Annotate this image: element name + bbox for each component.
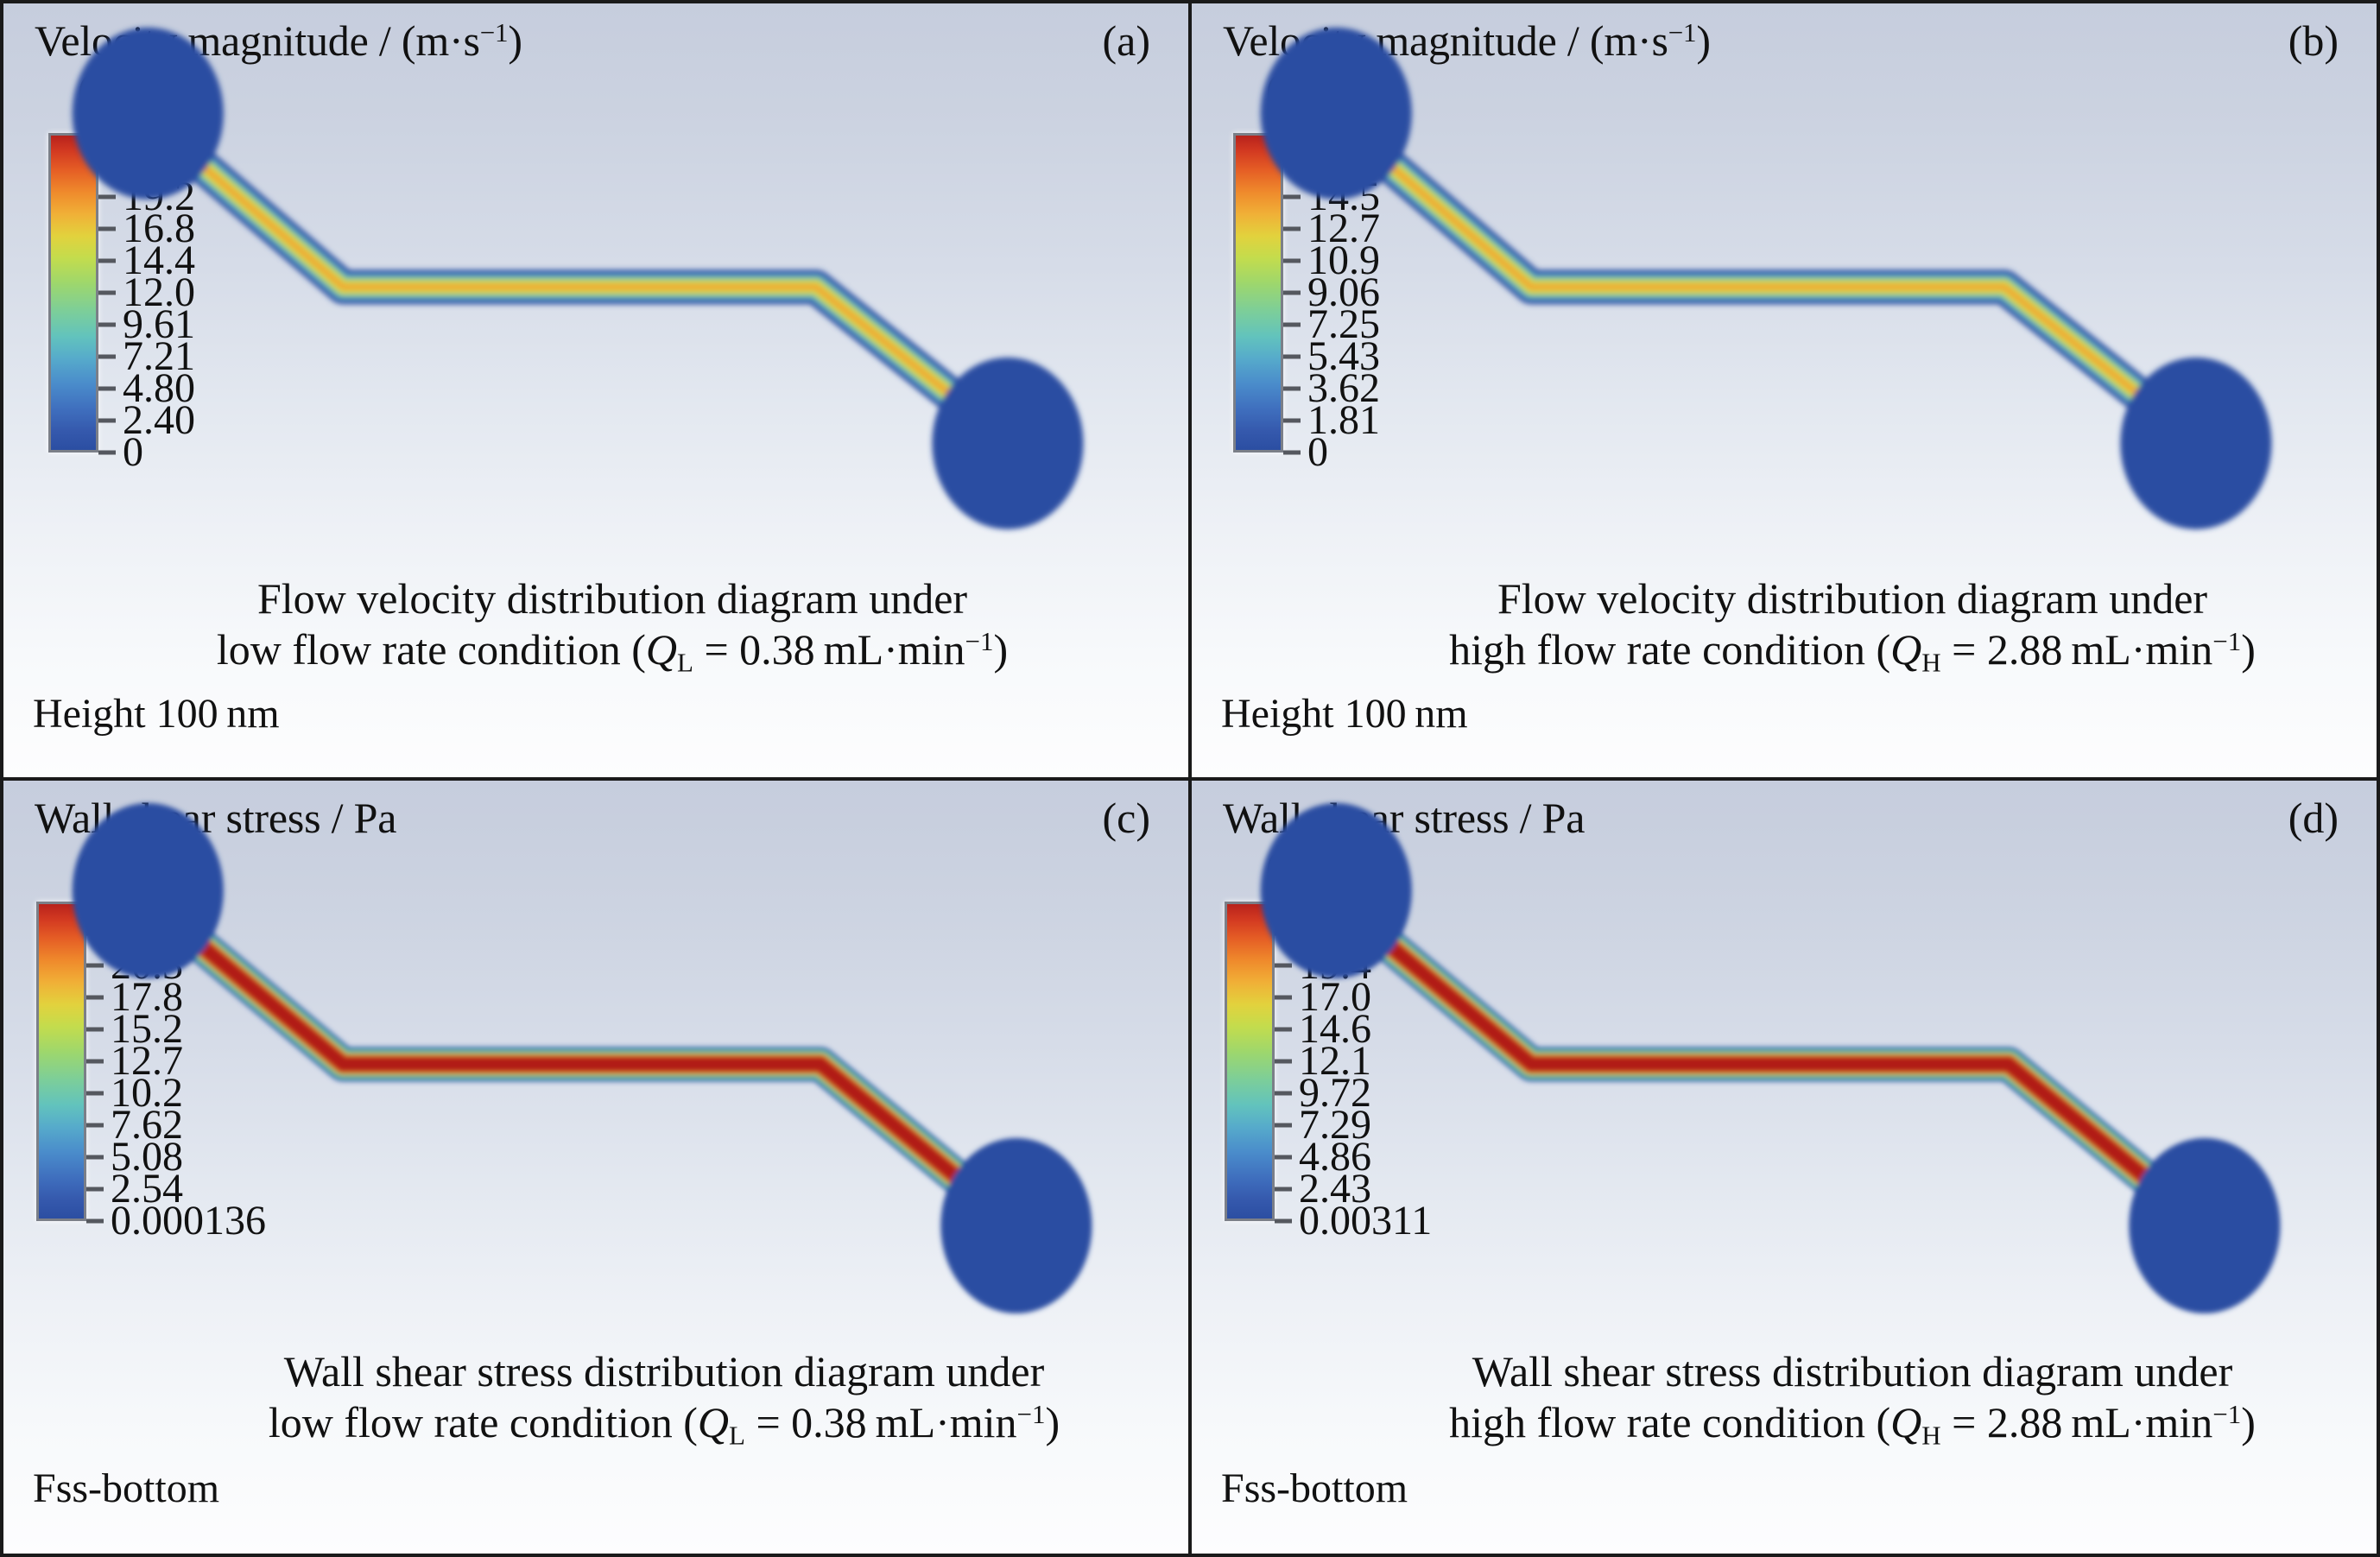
panel-b-caption: Flow velocity distribution diagram under… xyxy=(1377,573,2327,679)
panel-b-tickmark xyxy=(1283,419,1301,423)
panel-a-tickmark xyxy=(98,131,116,136)
panel-d-colorbar: 24.321.919.417.014.612.19.727.294.862.43… xyxy=(1225,902,1570,1221)
panel-c-tickmark xyxy=(86,1027,104,1031)
panel-a-tickmark xyxy=(98,163,116,168)
panel-c-tickmark xyxy=(86,995,104,999)
panel-a-tickmark xyxy=(98,419,116,423)
panel-c-colorbar-label: 0.000136 xyxy=(111,1200,266,1242)
panel-c-tickmark xyxy=(86,1218,104,1223)
panel-d-caption-line1: Wall shear stress distribution diagram u… xyxy=(1360,1346,2345,1397)
panel-d-tickmark xyxy=(1275,1027,1292,1031)
panel-c-footer-note: Fss-bottom xyxy=(33,1465,219,1512)
panel-a-colorbar: 24.021.619.216.814.412.09.617.214.802.40… xyxy=(48,133,333,453)
panel-d-tickmark xyxy=(1275,1155,1292,1159)
panel-c-caption-line2: low flow rate condition (QL = 0.38 mL·mi… xyxy=(176,1397,1152,1452)
panel-a-colorbar-labels: 24.021.619.216.814.412.09.617.214.802.40… xyxy=(123,133,333,453)
panel-a-caption-line2: low flow rate condition (QL = 0.38 mL·mi… xyxy=(159,624,1066,679)
panel-d-tickmark xyxy=(1275,899,1292,903)
panel-c-colorbar: 25.422.920.317.815.212.710.27.625.082.54… xyxy=(36,902,399,1221)
panel-a-scale-exponent: (×10−3) xyxy=(78,64,203,114)
panel-b-tickmark xyxy=(1283,451,1301,455)
panel-a-letter: (a) xyxy=(1103,16,1151,66)
panel-c-colorbar-labels: 25.422.920.317.815.212.710.27.625.082.54… xyxy=(111,902,399,1221)
panel-a-tickmark xyxy=(98,355,116,359)
panel-a: Velocity magnitude / (m·s−1) (×10−3) (a)… xyxy=(0,0,1190,779)
panel-d-colorbar-labels: 24.321.919.417.014.612.19.727.294.862.43… xyxy=(1299,902,1570,1221)
panel-a-colorbar-ticks xyxy=(98,133,117,453)
panel-c-caption: Wall shear stress distribution diagram u… xyxy=(176,1346,1152,1452)
panel-d: Wall shear stress / Pa (×10−1) (d) 24.32… xyxy=(1190,779,2380,1557)
panel-c-tickmark xyxy=(86,1187,104,1191)
panel-b-quantity-title: Velocity magnitude / (m·s−1) xyxy=(1223,16,1711,66)
panel-a-footer-note: Height 100 nm xyxy=(33,690,280,737)
panel-c-caption-line1: Wall shear stress distribution diagram u… xyxy=(176,1346,1152,1397)
panel-c-tickmark xyxy=(86,1091,104,1095)
panel-c-colorbar-gradient xyxy=(36,902,86,1221)
panel-a-tickmark xyxy=(98,387,116,391)
panel-d-tickmark xyxy=(1275,963,1292,967)
panel-d-tickmark xyxy=(1275,1218,1292,1223)
panel-c: Wall shear stress / Pa (×10−2) (c) 25.42… xyxy=(0,779,1190,1557)
panel-d-tickmark xyxy=(1275,995,1292,999)
panel-b-tickmark xyxy=(1283,163,1301,168)
panel-c-letter: (c) xyxy=(1103,793,1151,843)
panel-b-tickmark xyxy=(1283,387,1301,391)
panel-c-colorbar-ticks xyxy=(86,902,105,1221)
panel-b-tickmark xyxy=(1283,355,1301,359)
panel-d-letter: (d) xyxy=(2288,793,2339,843)
panel-b-tickmark xyxy=(1283,227,1301,231)
panel-a-tickmark xyxy=(98,259,116,263)
panel-b: Velocity magnitude / (m·s−1) (×10−2) (b)… xyxy=(1190,0,2380,779)
panel-d-colorbar-gradient xyxy=(1225,902,1275,1221)
panel-d-tickmark xyxy=(1275,1059,1292,1063)
panel-a-tickmark xyxy=(98,451,116,455)
panel-c-tickmark xyxy=(86,1155,104,1159)
panel-d-footer-note: Fss-bottom xyxy=(1221,1465,1408,1512)
panel-d-tickmark xyxy=(1275,931,1292,935)
panel-b-tickmark xyxy=(1283,291,1301,295)
panel-a-quantity-title: Velocity magnitude / (m·s−1) xyxy=(35,16,522,66)
panel-b-caption-line1: Flow velocity distribution diagram under xyxy=(1377,573,2327,624)
panel-d-quantity-title: Wall shear stress / Pa xyxy=(1223,793,1585,843)
panel-a-caption: Flow velocity distribution diagram under… xyxy=(159,573,1066,679)
panel-b-colorbar-gradient xyxy=(1233,133,1283,453)
panel-b-tickmark xyxy=(1283,259,1301,263)
panel-c-tickmark xyxy=(86,1059,104,1063)
panel-a-tickmark xyxy=(98,291,116,295)
panel-c-tickmark xyxy=(86,1123,104,1127)
panel-b-colorbar-labels: 18.116.314.512.710.99.067.255.433.621.81… xyxy=(1307,133,1518,453)
panel-a-tickmark xyxy=(98,195,116,199)
panel-c-tickmark xyxy=(86,963,104,967)
panel-b-tickmark xyxy=(1283,131,1301,136)
panel-d-caption-line2: high flow rate condition (QH = 2.88 mL·m… xyxy=(1360,1397,2345,1452)
panel-b-colorbar-ticks xyxy=(1283,133,1302,453)
panel-a-colorbar-label: 0 xyxy=(123,432,143,473)
panel-d-colorbar-label: 0.00311 xyxy=(1299,1200,1432,1242)
panel-c-tickmark xyxy=(86,931,104,935)
panel-b-scale-exponent: (×10−2) xyxy=(1266,64,1391,114)
panel-c-tickmark xyxy=(86,899,104,903)
panel-b-colorbar-label: 0 xyxy=(1307,432,1328,473)
panel-d-tickmark xyxy=(1275,1091,1292,1095)
figure-root: Velocity magnitude / (m·s−1) (×10−3) (a)… xyxy=(0,0,2380,1557)
panel-a-colorbar-gradient xyxy=(48,133,98,453)
panel-d-caption: Wall shear stress distribution diagram u… xyxy=(1360,1346,2345,1452)
panel-a-tickmark xyxy=(98,227,116,231)
panel-b-caption-line2: high flow rate condition (QH = 2.88 mL·m… xyxy=(1377,624,2327,679)
panel-d-tickmark xyxy=(1275,1123,1292,1127)
panel-b-letter: (b) xyxy=(2288,16,2339,66)
panel-a-caption-line1: Flow velocity distribution diagram under xyxy=(159,573,1066,624)
panel-c-quantity-title: Wall shear stress / Pa xyxy=(35,793,396,843)
panel-b-tickmark xyxy=(1283,195,1301,199)
panel-b-colorbar: 18.116.314.512.710.99.067.255.433.621.81… xyxy=(1233,133,1518,453)
panel-d-colorbar-ticks xyxy=(1275,902,1294,1221)
panel-d-tickmark xyxy=(1275,1187,1292,1191)
panel-b-footer-note: Height 100 nm xyxy=(1221,690,1468,737)
panel-b-tickmark xyxy=(1283,323,1301,327)
panel-a-tickmark xyxy=(98,323,116,327)
